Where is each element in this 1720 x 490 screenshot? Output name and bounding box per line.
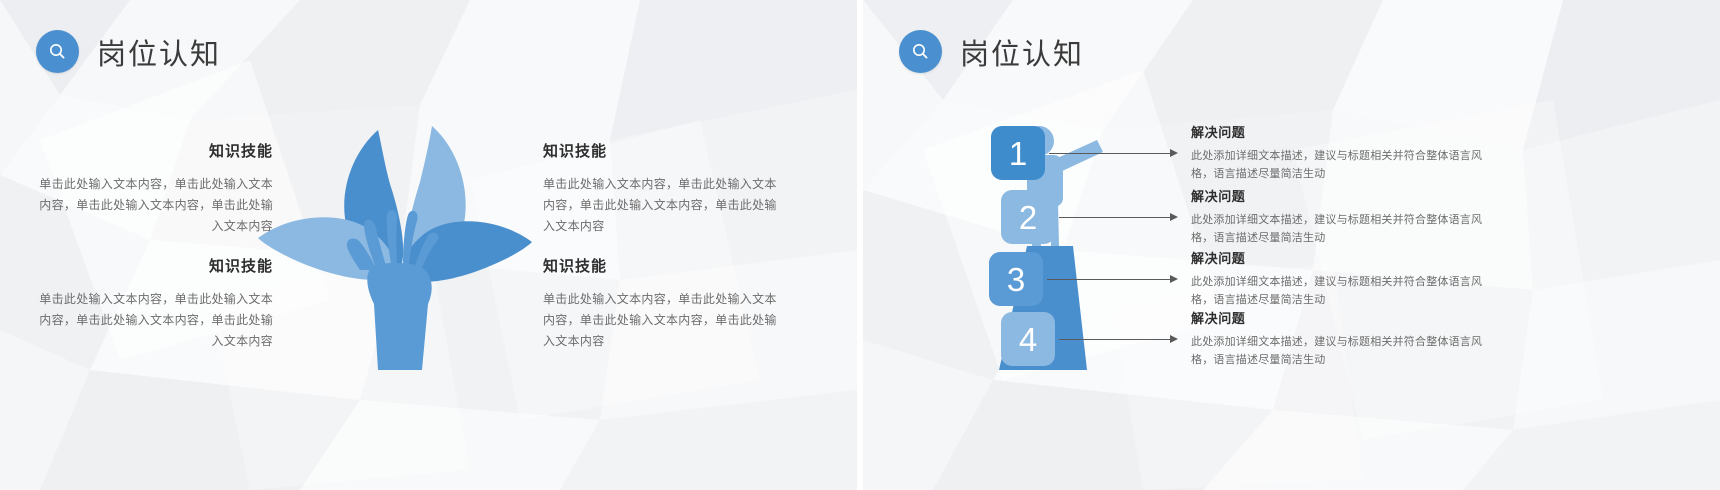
skill-block-4: 知识技能 单击此处输入文本内容，单击此处输入文本内容，单击此处输入文本内容，单击… — [543, 255, 788, 352]
skill-block-heading: 知识技能 — [543, 140, 788, 161]
step-connector-1 — [1049, 153, 1172, 154]
step-number-box-1[interactable]: 1 — [991, 126, 1045, 180]
step-number: 3 — [1007, 263, 1025, 296]
skill-block-body: 单击此处输入文本内容，单击此处输入文本内容，单击此处输入文本内容，单击此处输入文… — [28, 289, 273, 352]
slide-deck: 岗位认知 — [0, 0, 1720, 490]
skill-block-heading: 知识技能 — [543, 255, 788, 276]
skill-block-heading: 知识技能 — [28, 140, 273, 161]
step-body: 此处添加详细文本描述，建议与标题相关并符合整体语言风格，语言描述尽量简洁生动 — [1191, 333, 1501, 369]
slide-solve-problems: 岗位认知 1 — [863, 0, 1720, 490]
step-body: 此处添加详细文本描述，建议与标题相关并符合整体语言风格，语言描述尽量简洁生动 — [1191, 147, 1501, 183]
step-heading: 解决问题 — [1191, 186, 1501, 205]
step-number: 1 — [1009, 137, 1027, 170]
step-heading: 解决问题 — [1191, 122, 1501, 141]
step-connector-2 — [1059, 217, 1172, 218]
page-title: 岗位认知 — [960, 31, 1084, 73]
step-text-3: 解决问题 此处添加详细文本描述，建议与标题相关并符合整体语言风格，语言描述尽量简… — [1191, 248, 1501, 309]
step-connector-4 — [1059, 339, 1172, 340]
skill-block-heading: 知识技能 — [28, 255, 273, 276]
search-icon[interactable] — [899, 30, 942, 73]
step-text-2: 解决问题 此处添加详细文本描述，建议与标题相关并符合整体语言风格，语言描述尽量简… — [1191, 186, 1501, 247]
slide-title-row: 岗位认知 — [899, 30, 1084, 73]
step-number-box-2[interactable]: 2 — [1001, 190, 1055, 244]
slide-knowledge-skills: 岗位认知 — [0, 0, 857, 490]
page-title: 岗位认知 — [97, 31, 221, 73]
step-text-4: 解决问题 此处添加详细文本描述，建议与标题相关并符合整体语言风格，语言描述尽量简… — [1191, 308, 1501, 369]
skill-block-1: 知识技能 单击此处输入文本内容，单击此处输入文本内容，单击此处输入文本内容，单击… — [28, 140, 273, 237]
step-number-box-4[interactable]: 4 — [1001, 312, 1055, 366]
step-text-1: 解决问题 此处添加详细文本描述，建议与标题相关并符合整体语言风格，语言描述尽量简… — [1191, 122, 1501, 183]
step-number-box-3[interactable]: 3 — [989, 252, 1043, 306]
search-icon[interactable] — [36, 30, 79, 73]
skill-block-3: 知识技能 单击此处输入文本内容，单击此处输入文本内容，单击此处输入文本内容，单击… — [28, 255, 273, 352]
hand-tree-illustration — [250, 118, 540, 370]
skill-block-2: 知识技能 单击此处输入文本内容，单击此处输入文本内容，单击此处输入文本内容，单击… — [543, 140, 788, 237]
step-number: 4 — [1019, 323, 1037, 356]
skill-block-body: 单击此处输入文本内容，单击此处输入文本内容，单击此处输入文本内容，单击此处输入文… — [543, 174, 788, 237]
step-heading: 解决问题 — [1191, 308, 1501, 327]
step-body: 此处添加详细文本描述，建议与标题相关并符合整体语言风格，语言描述尽量简洁生动 — [1191, 273, 1501, 309]
step-number: 2 — [1019, 201, 1037, 234]
skill-block-body: 单击此处输入文本内容，单击此处输入文本内容，单击此处输入文本内容，单击此处输入文… — [28, 174, 273, 237]
step-body: 此处添加详细文本描述，建议与标题相关并符合整体语言风格，语言描述尽量简洁生动 — [1191, 211, 1501, 247]
step-connector-3 — [1047, 279, 1172, 280]
slide-title-row: 岗位认知 — [36, 30, 221, 73]
skill-block-body: 单击此处输入文本内容，单击此处输入文本内容，单击此处输入文本内容，单击此处输入文… — [543, 289, 788, 352]
step-heading: 解决问题 — [1191, 248, 1501, 267]
